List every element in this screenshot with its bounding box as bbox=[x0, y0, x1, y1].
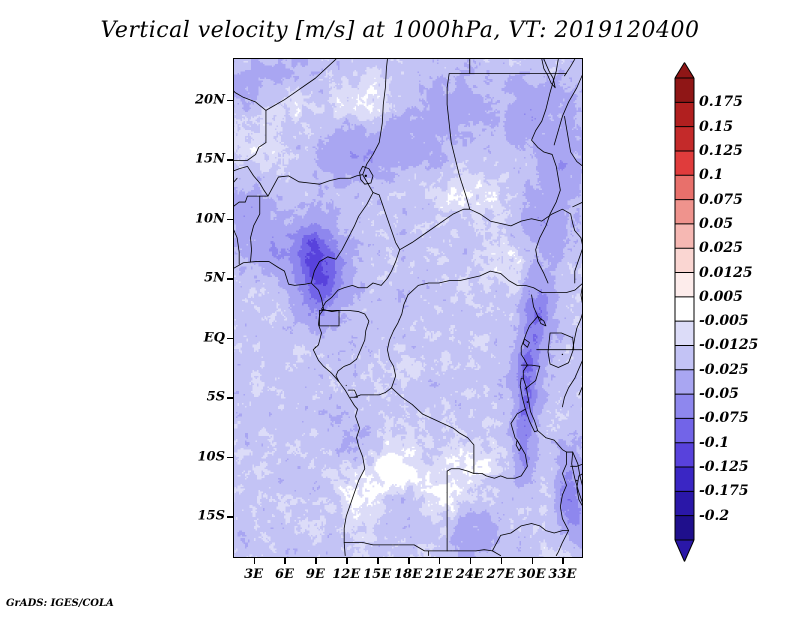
x-tick-mark bbox=[254, 558, 256, 564]
colorbar-tick-label: -0.125 bbox=[699, 459, 749, 475]
colorbar-tick-label: 0.0125 bbox=[699, 265, 753, 281]
colorbar-tick-label: 0.005 bbox=[699, 289, 743, 305]
colorbar-tick-label: -0.175 bbox=[699, 483, 749, 499]
x-tick-label: 21E bbox=[425, 567, 453, 582]
colorbar-tick-label: -0.2 bbox=[699, 508, 729, 524]
colorbar-swatches bbox=[673, 62, 699, 562]
x-tick-mark bbox=[408, 558, 410, 564]
x-tick-mark bbox=[439, 558, 441, 564]
y-tick-mark bbox=[227, 338, 233, 340]
map-plot-area: 20N15N10N5NEQ5S10S15S 3E6E9E12E15E18E21E… bbox=[233, 58, 583, 558]
colorbar-tick-label: -0.0125 bbox=[699, 337, 758, 353]
y-tick-label: 5N bbox=[204, 271, 225, 286]
x-tick-mark bbox=[377, 558, 379, 564]
y-tick-mark bbox=[227, 219, 233, 221]
colorbar-tick-label: 0.175 bbox=[699, 94, 743, 110]
x-tick-label: 24E bbox=[456, 567, 484, 582]
y-tick-mark bbox=[227, 457, 233, 459]
grads-attribution: GrADS: IGES/COLA bbox=[6, 598, 114, 609]
y-tick-mark bbox=[227, 159, 233, 161]
colorbar-tick-label: 0.075 bbox=[699, 192, 743, 208]
x-tick-mark bbox=[284, 558, 286, 564]
colorbar-tick-label: 0.05 bbox=[699, 216, 733, 232]
page-title: Vertical velocity [m/s] at 1000hPa, VT: … bbox=[0, 18, 800, 43]
colorbar-tick-label: 0.025 bbox=[699, 240, 743, 256]
x-tick-label: 27E bbox=[487, 567, 515, 582]
colorbar-tick-label: -0.1 bbox=[699, 435, 729, 451]
colorbar-tick-label: -0.075 bbox=[699, 410, 749, 426]
x-tick-label: 33E bbox=[548, 567, 576, 582]
y-tick-mark bbox=[227, 100, 233, 102]
colorbar-tick-label: 0.125 bbox=[699, 143, 743, 159]
x-tick-mark bbox=[470, 558, 472, 564]
y-tick-label: 15S bbox=[198, 509, 225, 524]
x-tick-mark bbox=[315, 558, 317, 564]
y-tick-label: 15N bbox=[195, 152, 225, 167]
colorbar-tick-label: -0.05 bbox=[699, 386, 739, 402]
y-tick-label: 10N bbox=[195, 211, 225, 226]
x-tick-label: 15E bbox=[363, 567, 391, 582]
colorbar-tick-label: 0.15 bbox=[699, 119, 733, 135]
x-tick-label: 3E bbox=[244, 567, 263, 582]
colorbar-tick-label: -0.005 bbox=[699, 313, 749, 329]
colorbar-tick-label: -0.025 bbox=[699, 362, 749, 378]
x-tick-label: 18E bbox=[394, 567, 422, 582]
x-tick-label: 6E bbox=[275, 567, 294, 582]
x-tick-mark bbox=[346, 558, 348, 564]
y-tick-mark bbox=[227, 397, 233, 399]
colorbar: 0.1750.150.1250.10.0750.050.0250.01250.0… bbox=[673, 62, 793, 562]
y-tick-label: 5S bbox=[207, 390, 225, 405]
x-tick-mark bbox=[501, 558, 503, 564]
x-tick-label: 12E bbox=[332, 567, 360, 582]
vertical-velocity-field bbox=[233, 58, 583, 558]
x-tick-mark bbox=[532, 558, 534, 564]
y-tick-label: EQ bbox=[204, 330, 225, 345]
y-tick-label: 10S bbox=[198, 449, 225, 464]
x-tick-mark bbox=[562, 558, 564, 564]
y-tick-mark bbox=[227, 516, 233, 518]
colorbar-tick-label: 0.1 bbox=[699, 167, 723, 183]
y-tick-label: 20N bbox=[195, 92, 225, 107]
x-tick-label: 30E bbox=[518, 567, 546, 582]
y-tick-mark bbox=[227, 278, 233, 280]
x-tick-label: 9E bbox=[306, 567, 325, 582]
